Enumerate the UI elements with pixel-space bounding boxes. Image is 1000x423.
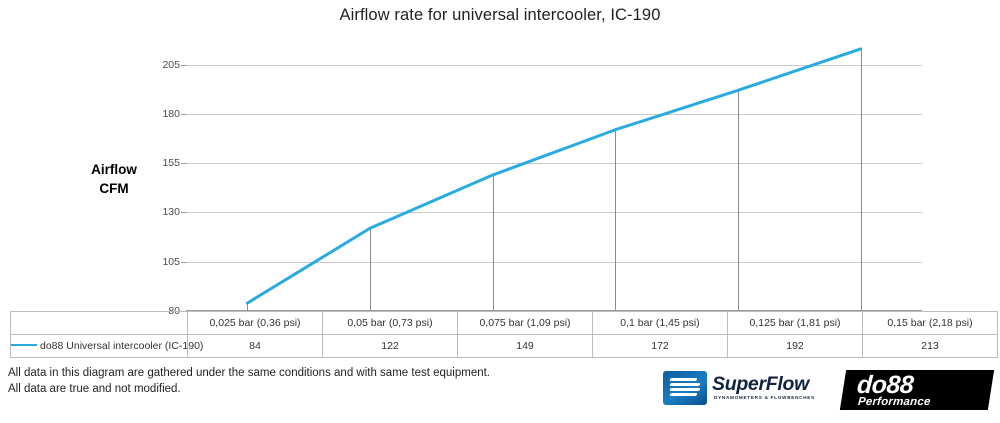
y-axis-tick-label: 155 — [162, 157, 180, 169]
y-axis-tick-label: 105 — [162, 256, 180, 268]
series-polyline — [247, 49, 860, 303]
category-cell: 0,15 bar (2,18 psi) — [863, 312, 998, 335]
data-table: 0,025 bar (0,36 psi)0,05 bar (0,73 psi)0… — [10, 311, 998, 358]
y-axis-title: Airflow CFM — [60, 160, 168, 198]
category-cell: 0,125 bar (1,81 psi) — [728, 312, 863, 335]
value-cell: 213 — [863, 335, 998, 358]
category-cell: 0,025 bar (0,36 psi) — [188, 312, 323, 335]
table-row-categories: 0,025 bar (0,36 psi)0,05 bar (0,73 psi)0… — [11, 312, 998, 335]
superflow-tagline: DYNAMOMETERS & FLOWBENCHES — [714, 395, 815, 400]
superflow-wordmark: SuperFlow — [712, 373, 809, 396]
superflow-swoosh-icon — [663, 371, 707, 405]
plot-area: 80105130155180205 — [186, 45, 922, 311]
value-cell: 172 — [593, 335, 728, 358]
superflow-logo: SuperFlow DYNAMOMETERS & FLOWBENCHES — [663, 369, 821, 407]
footer-line-1: All data in this diagram are gathered un… — [8, 366, 490, 382]
category-cell: 0,1 bar (1,45 psi) — [593, 312, 728, 335]
y-axis-tick-label: 205 — [162, 59, 180, 71]
category-row-spacer — [11, 312, 188, 335]
value-cell: 192 — [728, 335, 863, 358]
legend-entry[interactable]: do88 Universal intercooler (IC-190) — [11, 335, 188, 358]
do88-logo: do88 Performance — [843, 370, 991, 410]
chart-title: Airflow rate for universal intercooler, … — [0, 6, 1000, 25]
legend-line-swatch-icon — [11, 344, 37, 346]
y-axis-tick-label: 180 — [162, 108, 180, 120]
footer-line-2: All data are true and not modified. — [8, 382, 490, 398]
category-cell: 0,05 bar (0,73 psi) — [323, 312, 458, 335]
table-row-values: do88 Universal intercooler (IC-190) 8412… — [11, 335, 998, 358]
y-axis-title-line1: Airflow — [91, 162, 137, 177]
footer-disclaimer: All data in this diagram are gathered un… — [8, 366, 490, 397]
value-cell: 149 — [458, 335, 593, 358]
series-line-chart — [186, 45, 922, 311]
legend-label: do88 Universal intercooler (IC-190) — [40, 340, 203, 352]
value-cell: 84 — [188, 335, 323, 358]
y-axis-title-line2: CFM — [99, 181, 128, 196]
value-cell: 122 — [323, 335, 458, 358]
y-axis-tick-label: 130 — [162, 206, 180, 218]
category-cell: 0,075 bar (1,09 psi) — [458, 312, 593, 335]
do88-tagline: Performance — [858, 396, 931, 408]
